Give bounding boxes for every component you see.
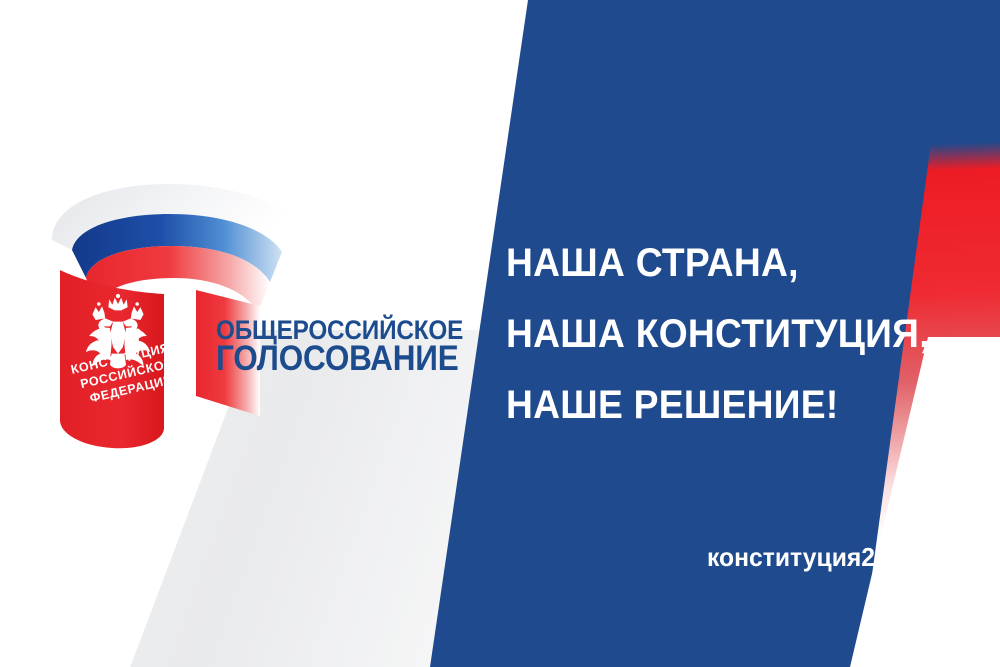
headline-line-2: НАША КОНСТИТУЦИЯ, — [506, 314, 930, 354]
poster-canvas: КОНСТИТУЦИЯ РОССИЙСКОЙ ФЕДЕРАЦИИ ОБЩЕРОС… — [0, 0, 1000, 667]
logo-wordmark-line-2: ГОЛОСОВАНИЕ — [216, 343, 459, 375]
headline-line-1: НАША СТРАНА, — [506, 243, 930, 283]
headline: НАША СТРАНА, НАША КОНСТИТУЦИЯ, НАШЕ РЕШЕ… — [506, 243, 962, 425]
vote-logo: КОНСТИТУЦИЯ РОССИЙСКОЙ ФЕДЕРАЦИИ ОБЩЕРОС… — [46, 178, 466, 468]
logo-wordmark: ОБЩЕРОССИЙСКОЕ ГОЛОСОВАНИЕ — [216, 318, 486, 375]
website-url[interactable]: конституция2020.рф — [707, 542, 960, 573]
headline-line-3: НАШЕ РЕШЕНИЕ! — [506, 385, 930, 425]
